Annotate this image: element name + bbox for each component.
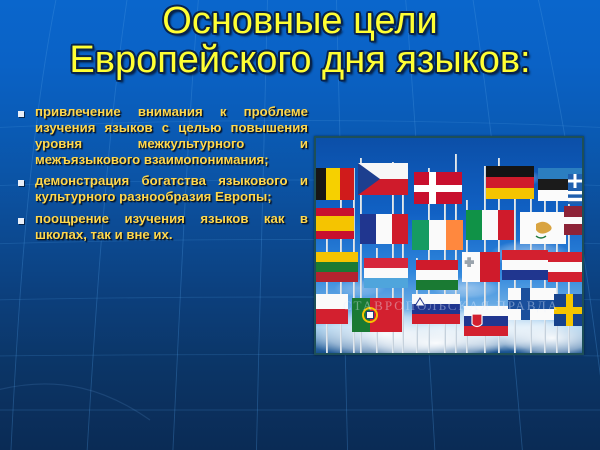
title-line-1: Основные цели	[0, 2, 600, 41]
list-item: демонстрация богатства языкового и культ…	[18, 173, 308, 205]
slide-title: Основные цели Европейского дня языков:	[0, 2, 600, 80]
title-line-2: Европейского дня языков:	[0, 41, 600, 80]
list-item-label: демонстрация богатства языкового и культ…	[35, 173, 308, 205]
bullet-list: привлечение внимания к проблеме изучения…	[18, 104, 308, 248]
presentation-slide: Основные цели Европейского дня языков: п…	[0, 0, 600, 450]
flags-photo: СТАВРОПОЛЬСКАЯ ПРАВДА	[314, 136, 584, 355]
square-bullet-icon	[18, 111, 24, 117]
flags-illustration	[316, 138, 582, 353]
list-item-label: привлечение внимания к проблеме изучения…	[35, 104, 308, 168]
list-item: привлечение внимания к проблеме изучения…	[18, 104, 308, 168]
square-bullet-icon	[18, 218, 24, 224]
list-item-label: поощрение изучения языков как в школах, …	[35, 211, 308, 243]
list-item: поощрение изучения языков как в школах, …	[18, 211, 308, 243]
flags-photo-canvas	[316, 138, 582, 353]
square-bullet-icon	[18, 180, 24, 186]
